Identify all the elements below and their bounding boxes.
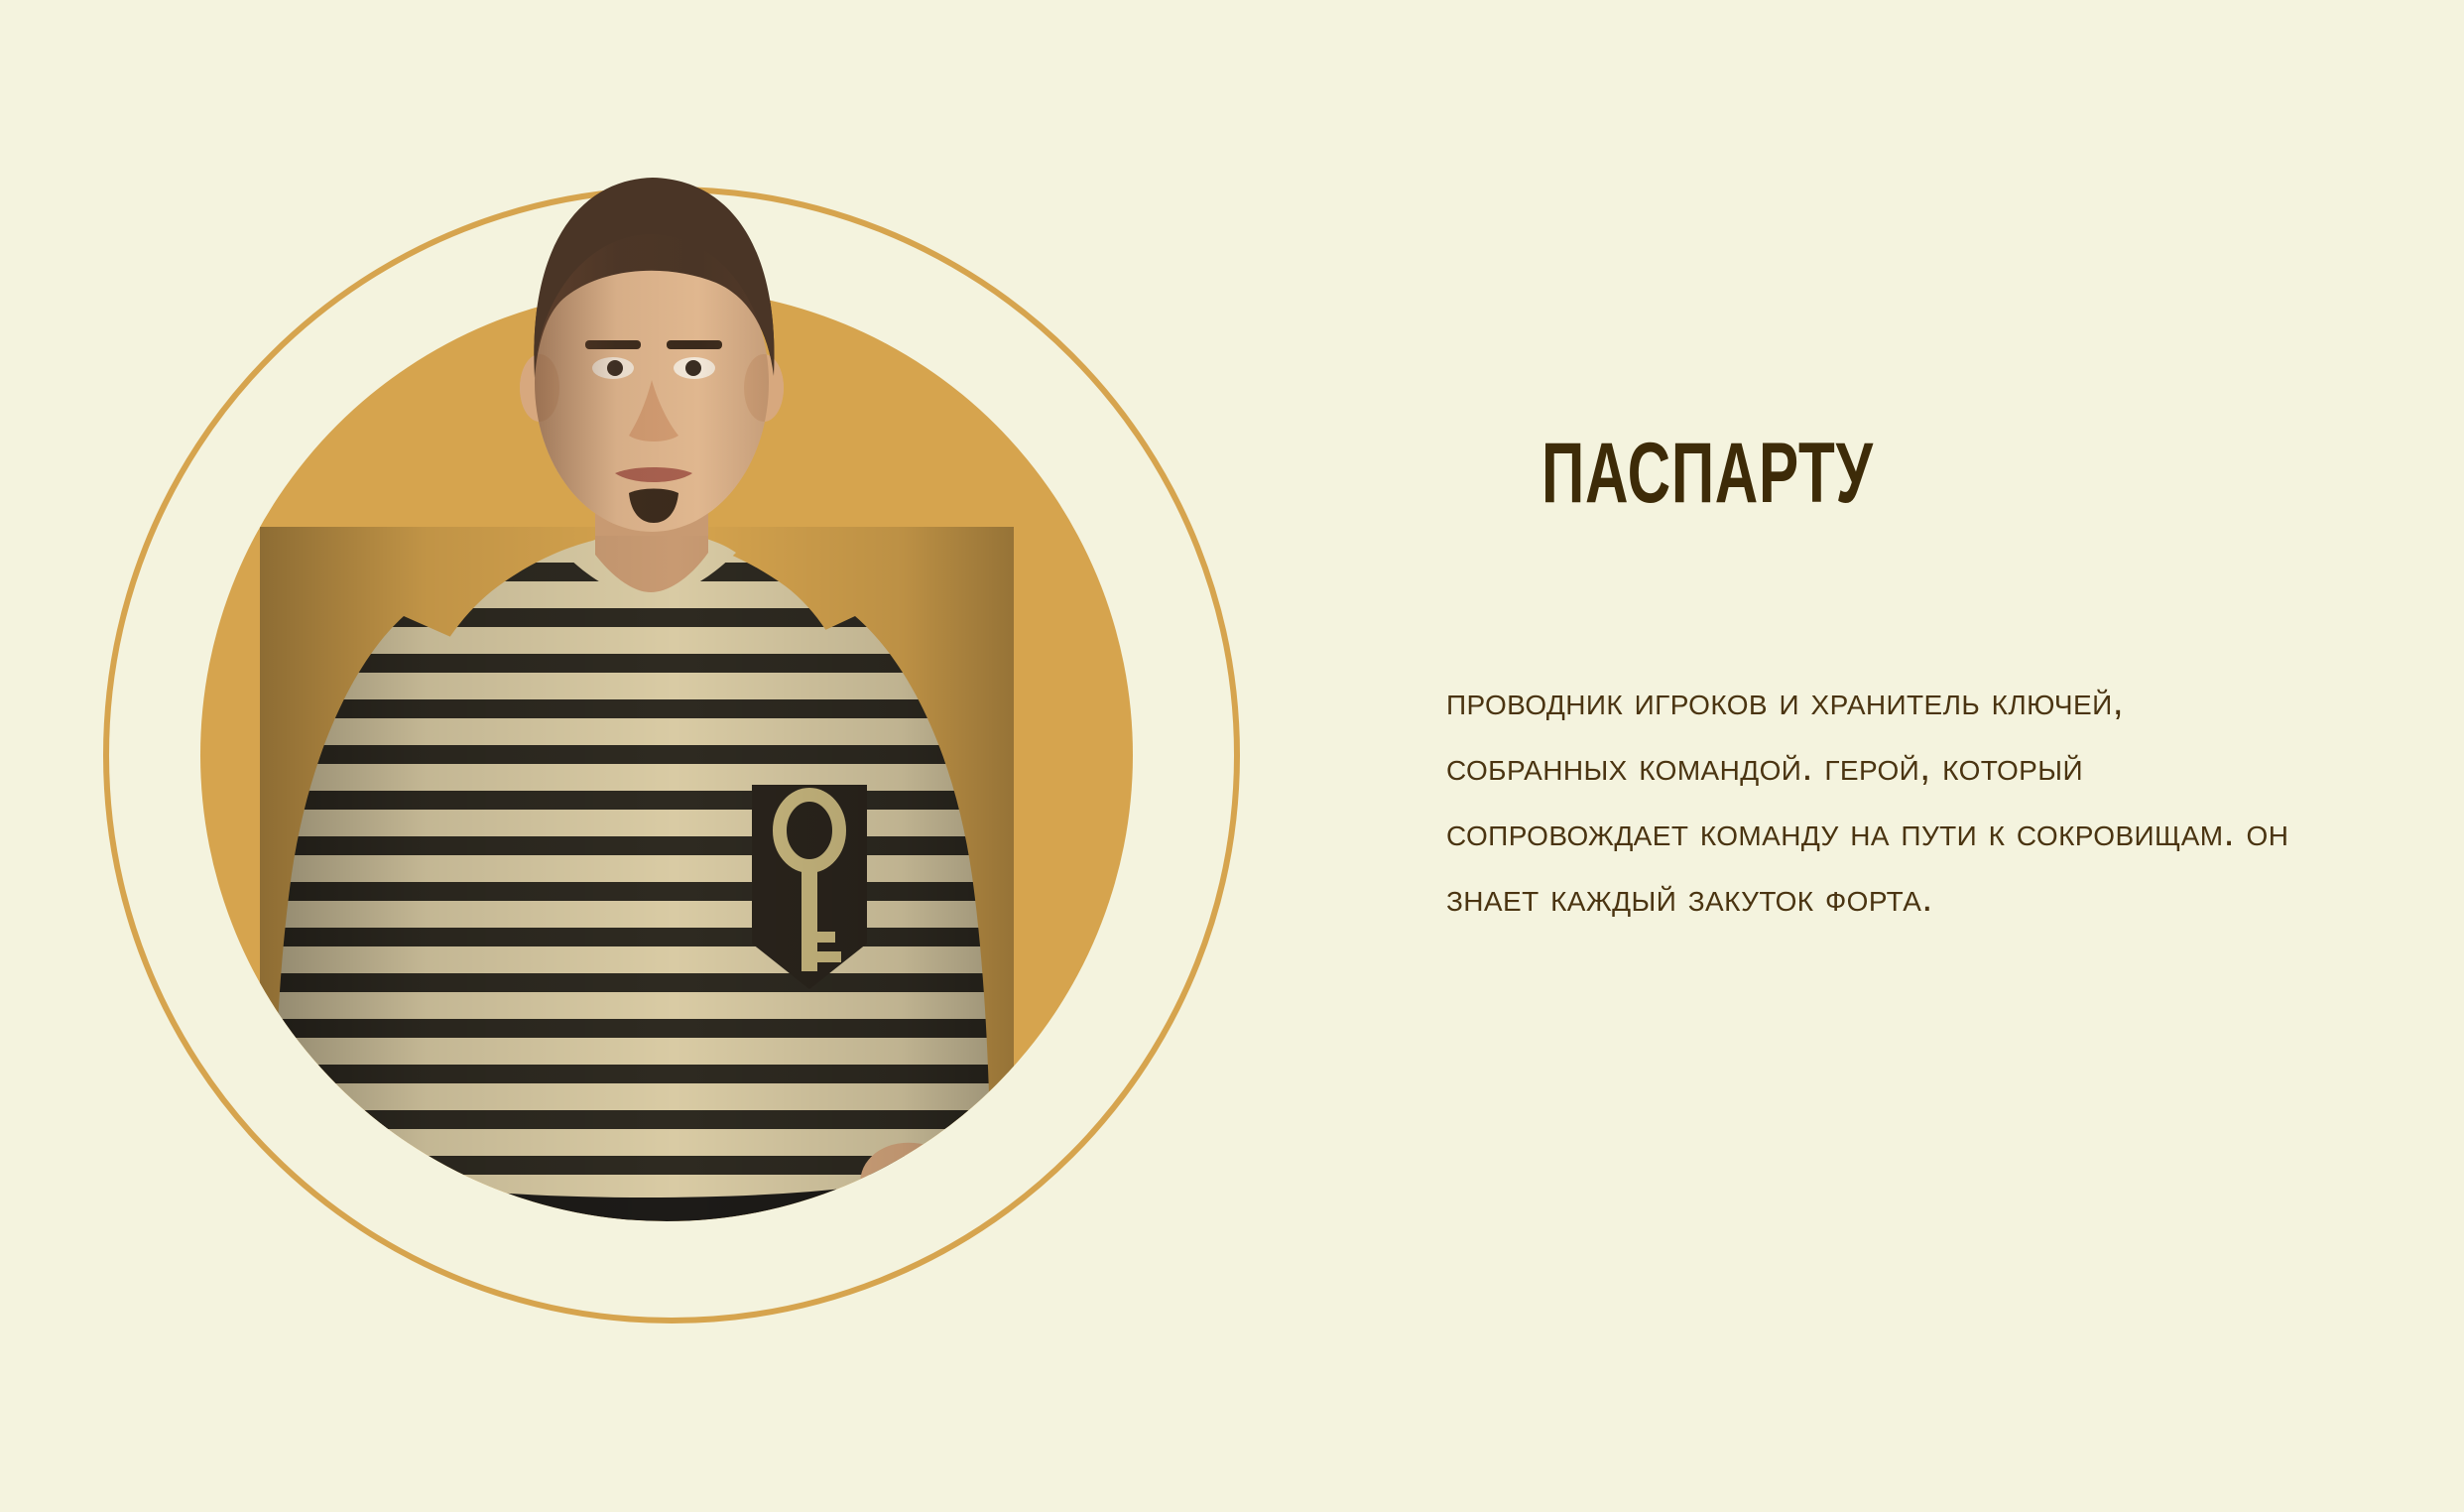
character-description: Проводник игроков и хранитель ключей, со…	[1446, 669, 2299, 931]
page-title: ПАСПАРТУ	[1541, 431, 1874, 516]
slide-root: ПАСПАРТУ Проводник игроков и хранитель к…	[0, 0, 2464, 1512]
portrait-photo	[200, 289, 1133, 1221]
figure-shading	[260, 527, 1014, 1221]
portrait-block	[0, 0, 1369, 1512]
face-shading	[535, 289, 769, 532]
portrait-figure-svg	[200, 289, 1133, 1221]
text-column: ПАСПАРТУ Проводник игроков и хранитель к…	[1443, 0, 2336, 1512]
